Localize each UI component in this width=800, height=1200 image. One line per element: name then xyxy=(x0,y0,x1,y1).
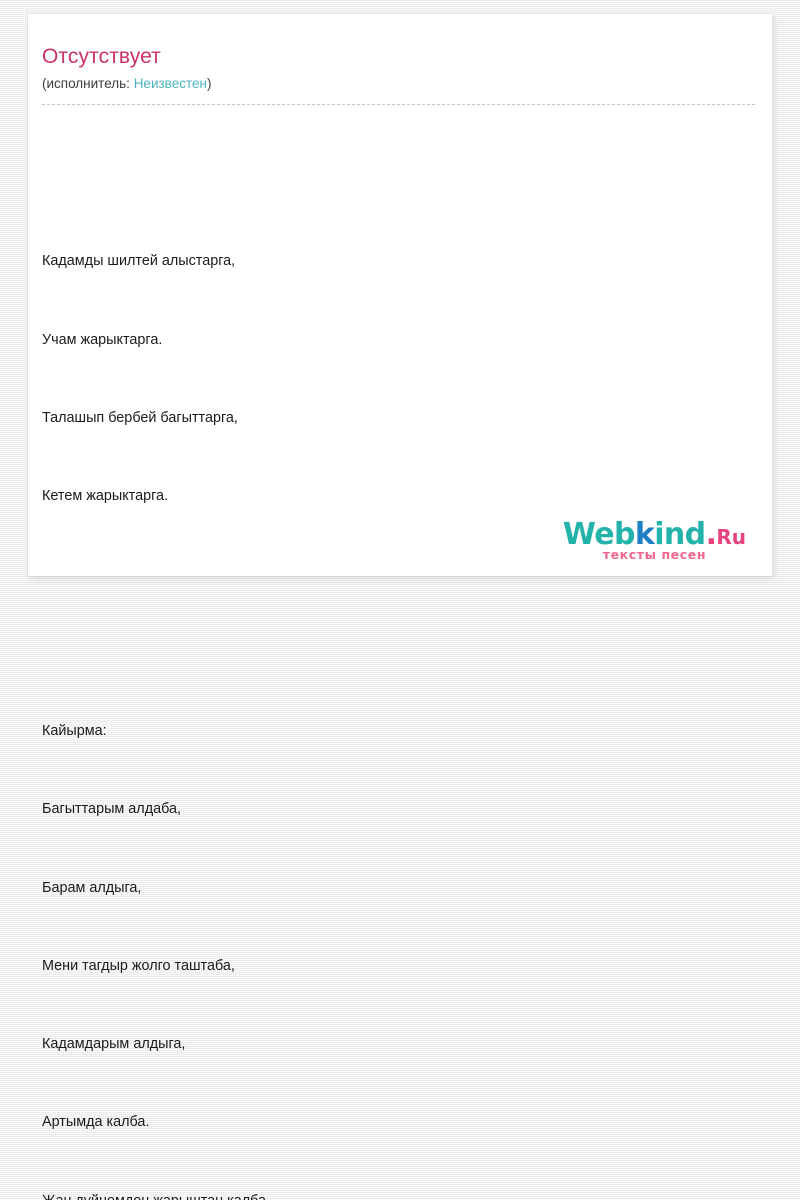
header-divider xyxy=(42,104,755,105)
artist-link[interactable]: Неизвестен xyxy=(134,76,207,91)
lyrics-stanza: Кайырма: Багыттарым алдаба, Барам алдыга… xyxy=(42,666,752,1200)
lyric-line: Кетем жарыктарга. xyxy=(42,483,752,509)
lyric-line: Артымда калба. xyxy=(42,1109,752,1135)
lyric-line: Кадамдарым алдыга, xyxy=(42,1031,752,1057)
site-logo[interactable]: Webkind.Ru тексты песен xyxy=(563,520,746,562)
lyric-line: Талашып бербей багыттарга, xyxy=(42,405,752,431)
page-title: Отсутствует xyxy=(42,44,754,70)
lyric-line: Барам алдыга, xyxy=(42,875,752,901)
lyric-line: Жан дүйнөмдөн жарыштан калба. xyxy=(42,1188,752,1200)
logo-part-ru: Ru xyxy=(716,525,746,549)
lyrics-body: Кадамды шилтей алыстарга, Учам жарыктарг… xyxy=(42,118,752,1200)
logo-part-dot: . xyxy=(706,517,717,552)
lyric-line: Багыттарым алдаба, xyxy=(42,796,752,822)
song-content-card: Отсутствует (исполнитель: Неизвестен) Ка… xyxy=(28,14,772,576)
lyric-line: Мени тагдыр жолго таштаба, xyxy=(42,953,752,979)
lyric-line: Учам жарыктарга. xyxy=(42,327,752,353)
artist-prefix-label: (исполнитель: xyxy=(42,76,134,91)
lyrics-stanza: Кадамды шилтей алыстарга, Учам жарыктарг… xyxy=(42,196,752,561)
lyric-line: Кайырма: xyxy=(42,718,752,744)
artist-line: (исполнитель: Неизвестен) xyxy=(42,75,754,92)
artist-suffix-label: ) xyxy=(207,76,212,91)
lyric-line: Кадамды шилтей алыстарга, xyxy=(42,248,752,274)
song-header: Отсутствует (исполнитель: Неизвестен) xyxy=(42,44,754,92)
